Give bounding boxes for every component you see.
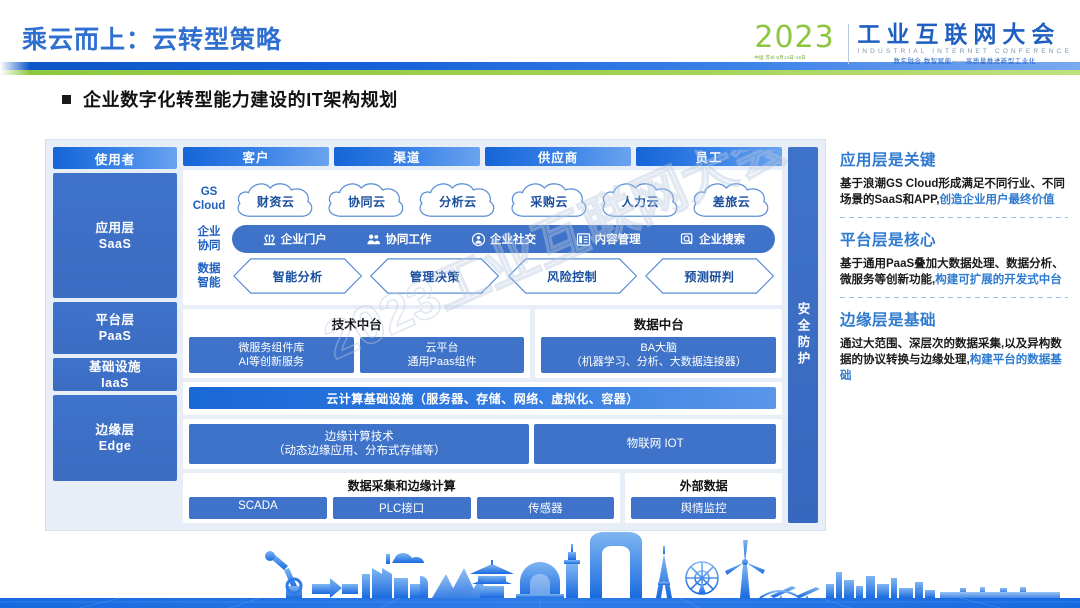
- edge-group-data-acquisition-title: 数据采集和边缘计算: [189, 477, 614, 494]
- layer-users-header: 使用者: [53, 147, 177, 169]
- layer-edge: 边缘层 Edge: [53, 395, 177, 481]
- user-chip-supplier: 供应商: [485, 147, 631, 166]
- logo-name-en: INDUSTRIAL INTERNET CONFERENCE: [857, 48, 1072, 55]
- collab-label-content: 内容管理: [595, 231, 641, 247]
- note-2: 平台层是核心基于通用PaaS叠加大数据处理、数据分析、微服务等创新功能,构建可扩…: [840, 228, 1068, 288]
- layer-edge-en: Edge: [99, 438, 132, 454]
- gs-cloud-row: GS Cloud 财资云 协同云: [190, 176, 775, 222]
- data-item-ba-brain-line2: （机器学习、分析、大数据连接器）: [543, 355, 774, 369]
- section-heading: 企业数字化转型能力建设的IT架构规划: [62, 86, 398, 112]
- gs-cloud-label-line1: GS: [190, 185, 228, 199]
- tech-middle-platform: 技术中台 微服务组件库 AI等创新服务 云平台 通用Paas组件: [183, 309, 530, 378]
- data-middle-platform: 数据中台 BA大脑 （机器学习、分析、大数据连接器）: [535, 309, 782, 378]
- layer-paas-cn: 平台层: [95, 312, 134, 328]
- edge-group-external-data: 外部数据 舆情监控: [625, 473, 782, 523]
- edge-item-iot: 物联网 IOT: [534, 424, 776, 464]
- logo-divider: [848, 24, 849, 64]
- edge-chip-public-opinion: 舆情监控: [631, 497, 776, 519]
- note-heading-1: 应用层是关键: [840, 148, 1068, 170]
- collab-label-line2: 协同: [190, 239, 228, 253]
- edge-item-computing-line1: 边缘计算技术: [325, 430, 394, 444]
- header-rule-green: [0, 70, 1080, 75]
- collab-label-teamwork: 协同工作: [385, 231, 431, 247]
- tech-item-microservice: 微服务组件库 AI等创新服务: [189, 337, 354, 373]
- data-intelligence-row: 数据 智能 智能分析 管理决策: [190, 253, 775, 299]
- tech-middle-platform-items: 微服务组件库 AI等创新服务 云平台 通用Paas组件: [189, 337, 524, 373]
- collab-label-portal: 企业门户: [281, 231, 327, 247]
- edge-group-data-acquisition: 数据采集和边缘计算 SCADA PLC接口 传感器: [183, 473, 620, 523]
- logo-name-cn: 工业互联网大会: [857, 22, 1072, 47]
- security-bar: 安全防护: [788, 147, 818, 523]
- tech-item-microservice-line1: 微服务组件库: [191, 341, 352, 355]
- cloud-infrastructure-bar: 云计算基础设施（服务器、存储、网络、虚拟化、容器）: [189, 387, 776, 409]
- tech-item-cloudplatform: 云平台 通用Paas组件: [360, 337, 525, 373]
- collab-label-social: 企业社交: [490, 231, 536, 247]
- data-intelligence-list: 智能分析 管理决策 风险控制 预测研判: [232, 257, 775, 295]
- note-body-emphasis-1: 创造企业用户最终价值: [940, 194, 1055, 206]
- note-body-emphasis-3: 构建平台的数据基础: [840, 354, 1062, 382]
- hex-item-risk-control: 风险控制: [507, 257, 638, 295]
- gs-cloud-label-line2: Cloud: [190, 199, 228, 213]
- collab-item-search: 企业搜索: [680, 231, 745, 247]
- user-chip-customer: 客户: [183, 147, 329, 166]
- layer-saas: 应用层 SaaS: [53, 173, 177, 298]
- collab-item-portal: 企业门户: [262, 231, 327, 247]
- data-intelligence-label: 数据 智能: [190, 262, 228, 290]
- tech-middle-platform-title: 技术中台: [189, 314, 524, 333]
- edge-row-lower: 数据采集和边缘计算 SCADA PLC接口 传感器 外部数据 舆情监控: [183, 473, 782, 523]
- note-body-emphasis-2: 构建可扩展的开发式中台: [935, 274, 1062, 286]
- layer-paas: 平台层 PaaS: [53, 302, 177, 354]
- edge-item-computing: 边缘计算技术 （动态边缘应用、分布式存储等）: [189, 424, 529, 464]
- data-item-ba-brain: BA大脑 （机器学习、分析、大数据连接器）: [541, 337, 776, 373]
- layer-column: 使用者 应用层 SaaS 平台层 PaaS 基础设施 IaaS 边缘层 Edge: [53, 147, 177, 523]
- tech-item-microservice-line2: AI等创新服务: [191, 355, 352, 369]
- cloud-item-caigouyun: 采购云: [506, 179, 593, 219]
- logo-year-block: 2023 中国·苏州 8月14日-18日: [754, 22, 846, 70]
- security-column: 安全防护: [788, 147, 818, 523]
- layer-edge-cn: 边缘层: [95, 422, 134, 438]
- note-1: 应用层是关键基于浪潮GS Cloud形成满足不同行业、不同场景的SaaS和APP…: [840, 148, 1068, 208]
- saas-panel: GS Cloud 财资云 协同云: [183, 170, 782, 305]
- cloud-item-caiziyun: 财资云: [232, 179, 319, 219]
- user-chip-employee: 员工: [636, 147, 782, 166]
- di-label-line2: 智能: [190, 276, 228, 290]
- edge-group-data-acquisition-chips: SCADA PLC接口 传感器: [189, 497, 614, 519]
- edge-group-external-data-chips: 舆情监控: [631, 497, 776, 519]
- content-icon: [576, 232, 591, 247]
- logo-year-subtitle: 中国·苏州 8月14日-18日: [754, 55, 846, 61]
- iaas-panel: 云计算基础设施（服务器、存储、网络、虚拟化、容器）: [183, 382, 782, 415]
- gs-cloud-label: GS Cloud: [190, 185, 228, 213]
- collab-item-content: 内容管理: [576, 231, 641, 247]
- user-chip-channel: 渠道: [334, 147, 480, 166]
- data-item-ba-brain-line1: BA大脑: [543, 341, 774, 355]
- hex-item-prediction: 预测研判: [644, 257, 775, 295]
- note-divider-1: [840, 217, 1068, 218]
- edge-item-computing-line2: （动态边缘应用、分布式存储等）: [273, 444, 446, 458]
- collab-label-line1: 企业: [190, 225, 228, 239]
- search-icon: [680, 232, 695, 247]
- enterprise-collab-row: 企业 协同 企业门户 协同工作: [190, 225, 775, 253]
- note-heading-2: 平台层是核心: [840, 228, 1068, 250]
- note-3: 边缘层是基础通过大范围、深层次的数据采集,以及异构数据的协议转换与边缘处理,构建…: [840, 308, 1068, 384]
- layer-iaas-en: IaaS: [101, 375, 129, 391]
- social-icon: [471, 232, 486, 247]
- logo-text-block: 工业互联网大会 INDUSTRIAL INTERNET CONFERENCE 数…: [857, 22, 1072, 65]
- cloud-item-renliyun: 人力云: [597, 179, 684, 219]
- edge-group-external-data-title: 外部数据: [631, 477, 776, 494]
- note-heading-3: 边缘层是基础: [840, 308, 1068, 330]
- conference-logo: 2023 中国·苏州 8月14日-18日 工业互联网大会 INDUSTRIAL …: [754, 22, 1072, 70]
- logo-year: 2023: [754, 22, 846, 54]
- tech-item-cloudplatform-line2: 通用Paas组件: [362, 355, 523, 369]
- bullet-square-icon: [62, 95, 71, 104]
- edge-row-upper: 边缘计算技术 （动态边缘应用、分布式存储等） 物联网 IOT: [183, 419, 782, 469]
- collab-label-search: 企业搜索: [699, 231, 745, 247]
- edge-chip-sensor: 传感器: [477, 497, 615, 519]
- note-divider-2: [840, 297, 1068, 298]
- header-rule-fade: [0, 62, 30, 75]
- collab-item-social: 企业社交: [471, 231, 536, 247]
- cloud-item-fenxiyun: 分析云: [414, 179, 501, 219]
- edge-chip-scada: SCADA: [189, 497, 327, 519]
- hex-item-smart-analysis: 智能分析: [232, 257, 363, 295]
- page-title: 乘云而上：云转型策略: [22, 20, 282, 56]
- cloud-item-xietongyun: 协同云: [323, 179, 410, 219]
- skyline-decoration: [0, 530, 1080, 608]
- enterprise-collab-label: 企业 协同: [190, 225, 228, 253]
- section-heading-text: 企业数字化转型能力建设的IT架构规划: [83, 86, 398, 112]
- people-icon: [366, 232, 381, 247]
- security-bar-label: 安全防护: [794, 302, 813, 368]
- tech-item-cloudplatform-line1: 云平台: [362, 341, 523, 355]
- collab-item-teamwork: 协同工作: [366, 231, 431, 247]
- data-middle-platform-title: 数据中台: [541, 314, 776, 333]
- portal-icon: [262, 232, 277, 247]
- slide-root: 乘云而上：云转型策略 2023 中国·苏州 8月14日-18日 工业互联网大会 …: [0, 0, 1080, 608]
- diagram-content-column: 客户 渠道 供应商 员工 GS Cloud 财资云: [183, 147, 782, 523]
- di-label-line1: 数据: [190, 262, 228, 276]
- logo-slogan: 数实融合 数智赋能——高质量推进新型工业化: [857, 56, 1072, 65]
- note-body-1: 基于浪潮GS Cloud形成满足不同行业、不同场景的SaaS和APP,创造企业用…: [840, 176, 1068, 208]
- edge-item-iot-line1: 物联网 IOT: [627, 437, 684, 451]
- layer-saas-cn: 应用层: [95, 220, 134, 236]
- layer-saas-en: SaaS: [99, 236, 132, 252]
- hex-item-management-decision: 管理决策: [369, 257, 500, 295]
- layer-iaas: 基础设施 IaaS: [53, 358, 177, 391]
- paas-panel: 技术中台 微服务组件库 AI等创新服务 云平台 通用Paas组件 数据中台: [183, 309, 782, 378]
- note-body-2: 基于通用PaaS叠加大数据处理、数据分析、微服务等创新功能,构建可扩展的开发式中…: [840, 256, 1068, 288]
- notes-panel: 应用层是关键基于浪潮GS Cloud形成满足不同行业、不同场景的SaaS和APP…: [840, 148, 1068, 393]
- user-chip-row: 客户 渠道 供应商 员工: [183, 147, 782, 166]
- cloud-item-chailvyun: 差旅云: [688, 179, 775, 219]
- layer-paas-en: PaaS: [99, 328, 132, 344]
- cloud-service-list: 财资云 协同云 分析云 采购云: [232, 179, 775, 219]
- layer-iaas-cn: 基础设施: [89, 359, 141, 375]
- data-middle-platform-items: BA大脑 （机器学习、分析、大数据连接器）: [541, 337, 776, 373]
- architecture-diagram: 使用者 应用层 SaaS 平台层 PaaS 基础设施 IaaS 边缘层 Edge…: [45, 139, 826, 531]
- edge-chip-plc: PLC接口: [333, 497, 471, 519]
- note-body-3: 通过大范围、深层次的数据采集,以及异构数据的协议转换与边缘处理,构建平台的数据基…: [840, 336, 1068, 384]
- enterprise-collab-bar: 企业门户 协同工作 企业社交 内容管理: [232, 225, 775, 253]
